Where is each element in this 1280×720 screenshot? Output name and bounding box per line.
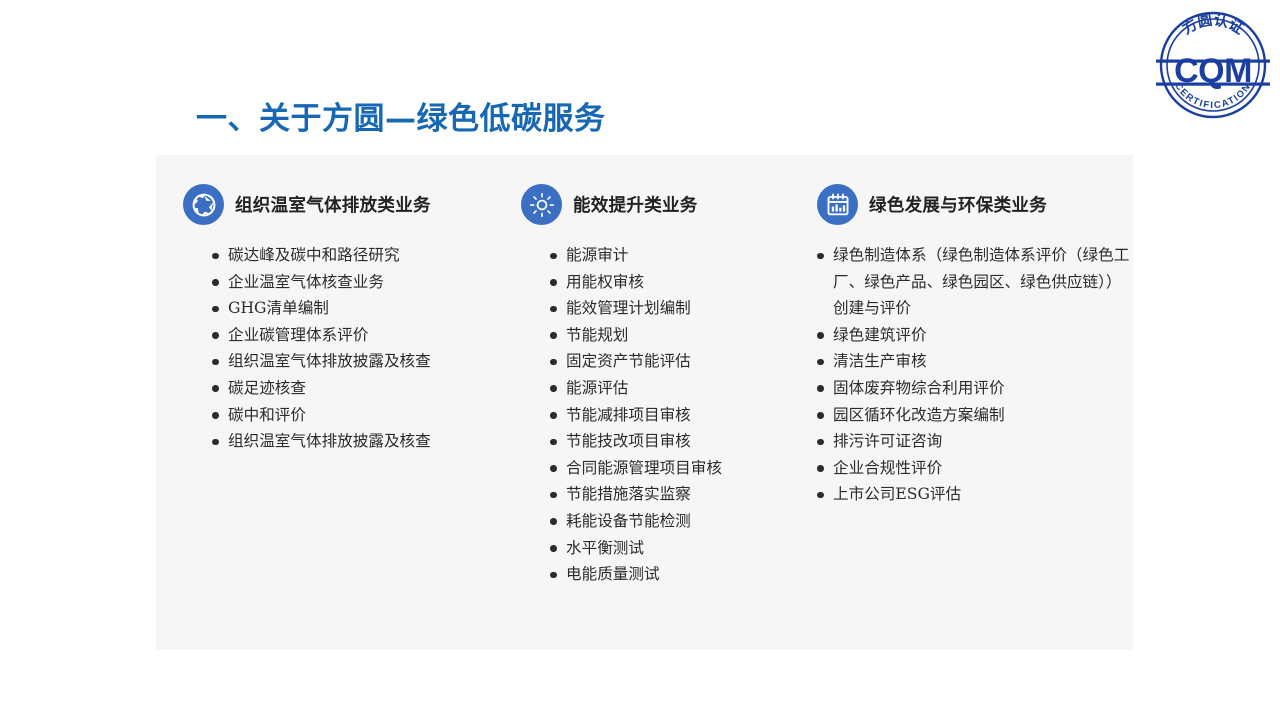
list-item: 能源评估	[550, 375, 803, 402]
list-item: 节能规划	[550, 322, 803, 349]
list-item: 排污许可证咨询	[817, 428, 1133, 455]
list-item: 组织温室气体排放披露及核查	[212, 428, 501, 455]
list-item: 合同能源管理项目审核	[550, 455, 803, 482]
column-title-efficiency: 能效提升类业务	[573, 192, 698, 217]
list-item: 碳中和评价	[212, 402, 501, 429]
column-header-green: 绿色发展与环保类业务	[809, 184, 1133, 225]
service-columns: 组织温室气体排放类业务 碳达峰及碳中和路径研究 企业温室气体核查业务 GHG清单…	[156, 155, 1133, 650]
list-item: 园区循环化改造方案编制	[817, 402, 1133, 429]
list-item: 节能措施落实监察	[550, 481, 803, 508]
list-item: 上市公司ESG评估	[817, 481, 1133, 508]
page-title: 一、关于方圆—绿色低碳服务	[196, 93, 606, 138]
column-title-green: 绿色发展与环保类业务	[869, 192, 1047, 217]
cqm-certification-logo: 方圆认证 CERTIFICATION CQM	[1154, 6, 1272, 124]
svg-text:方圆认证: 方圆认证	[1179, 11, 1247, 39]
list-item: 耗能设备节能检测	[550, 508, 803, 535]
content-panel: 组织温室气体排放类业务 碳达峰及碳中和路径研究 企业温室气体核查业务 GHG清单…	[156, 155, 1133, 650]
list-item: 节能技改项目审核	[550, 428, 803, 455]
list-item: 能效管理计划编制	[550, 295, 803, 322]
list-item: 组织温室气体排放披露及核查	[212, 348, 501, 375]
column-header-efficiency: 能效提升类业务	[513, 184, 803, 225]
service-column-green: 绿色发展与环保类业务 绿色制造体系（绿色制造体系评价（绿色工厂、绿色产品、绿色园…	[803, 155, 1133, 508]
aperture-icon	[183, 184, 224, 225]
list-item: 能源审计	[550, 242, 803, 269]
service-column-efficiency: 能效提升类业务 能源审计 用能权审核 能效管理计划编制 节能规划 固定资产节能评…	[501, 155, 803, 588]
list-item: 固体废弃物综合利用评价	[817, 375, 1133, 402]
list-item: 企业合规性评价	[817, 455, 1133, 482]
list-item: GHG清单编制	[212, 295, 501, 322]
column-header-ghg: 组织温室气体排放类业务	[175, 184, 501, 225]
list-item: 清洁生产审核	[817, 348, 1133, 375]
list-item: 绿色建筑评价	[817, 322, 1133, 349]
list-item: 电能质量测试	[550, 561, 803, 588]
list-item: 节能减排项目审核	[550, 402, 803, 429]
list-item: 水平衡测试	[550, 535, 803, 562]
list-item: 企业碳管理体系评价	[212, 322, 501, 349]
list-item: 企业温室气体核查业务	[212, 269, 501, 296]
service-list-ghg: 碳达峰及碳中和路径研究 企业温室气体核查业务 GHG清单编制 企业碳管理体系评价…	[175, 242, 501, 455]
list-item: 绿色制造体系（绿色制造体系评价（绿色工厂、绿色产品、绿色园区、绿色供应链））创建…	[817, 242, 1133, 322]
service-list-green: 绿色制造体系（绿色制造体系评价（绿色工厂、绿色产品、绿色园区、绿色供应链））创建…	[809, 242, 1133, 508]
list-item: 用能权审核	[550, 269, 803, 296]
list-item: 固定资产节能评估	[550, 348, 803, 375]
list-item: 碳达峰及碳中和路径研究	[212, 242, 501, 269]
calendar-chart-icon	[817, 184, 858, 225]
column-title-ghg: 组织温室气体排放类业务	[235, 192, 431, 217]
list-item: 碳足迹核查	[212, 375, 501, 402]
svg-text:CQM: CQM	[1174, 52, 1252, 90]
service-list-efficiency: 能源审计 用能权审核 能效管理计划编制 节能规划 固定资产节能评估 能源评估 节…	[513, 242, 803, 588]
sun-brightness-icon	[521, 184, 562, 225]
service-column-ghg: 组织温室气体排放类业务 碳达峰及碳中和路径研究 企业温室气体核查业务 GHG清单…	[156, 155, 501, 455]
